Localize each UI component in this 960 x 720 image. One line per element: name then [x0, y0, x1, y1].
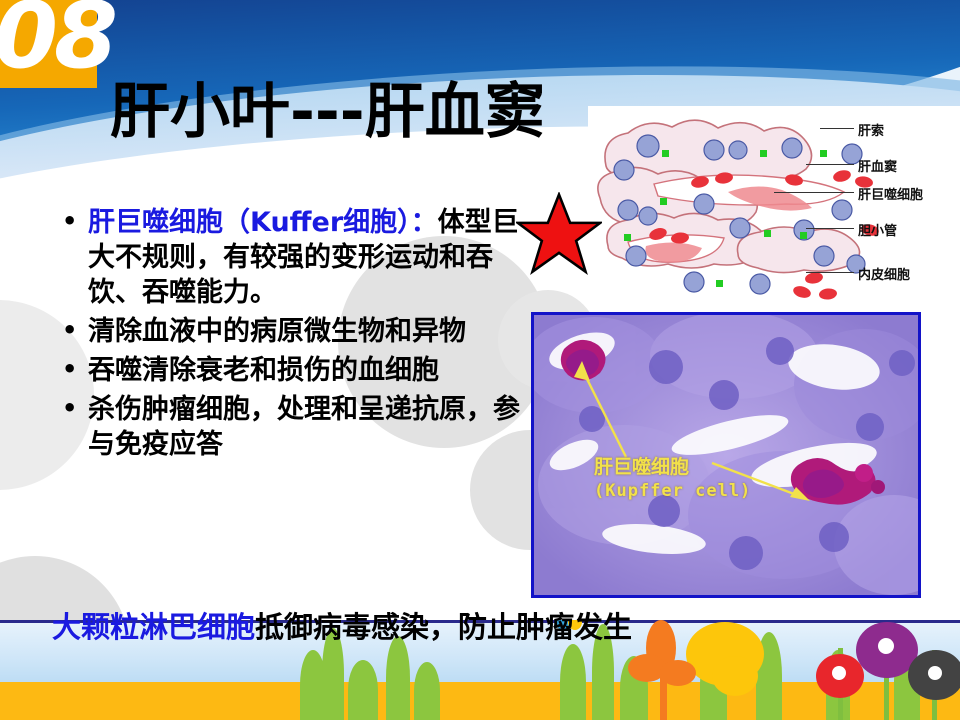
- liver-lobule-diagram: 肝索 肝血窦 肝巨噬细胞 胆小管 内皮细胞: [588, 106, 960, 304]
- diagram-label-3: 肝巨噬细胞: [858, 184, 923, 203]
- flower-dark-center: [928, 666, 942, 680]
- bullet-item-1: 肝巨噬细胞（Kuffer细胞）：体型巨大不规则，有较强的变形运动和吞饮、吞噬能力…: [48, 205, 528, 310]
- diagram-label-5: 内皮细胞: [858, 264, 910, 283]
- grass-blade: [386, 636, 410, 720]
- diagram-label-2: 肝血窦: [858, 156, 897, 175]
- summary-text: 抵御病毒感染，防止肿瘤发生: [255, 610, 632, 644]
- summary-highlight: 大颗粒淋巴细胞: [52, 610, 255, 644]
- slide-canvas: 08 肝小叶---肝血窦 肝巨噬细胞（Kuffer细胞）：体型巨大不规则，有较强…: [0, 0, 960, 720]
- micrograph-caption: 肝巨噬细胞 (Kupffer cell): [594, 455, 751, 503]
- bullet-1-highlight: 肝巨噬细胞（Kuffer细胞）：: [88, 207, 438, 238]
- flower-orange-petal: [660, 660, 696, 686]
- footer-orange-band: [0, 682, 960, 720]
- grass-blade: [348, 660, 378, 720]
- micrograph-caption-cn: 肝巨噬细胞: [594, 455, 751, 479]
- grass-blade: [414, 662, 440, 720]
- diagram-label-4: 胆小管: [858, 220, 897, 239]
- flower-red-center: [832, 666, 846, 680]
- red-star-icon: [516, 192, 602, 276]
- bullet-list: 肝巨噬细胞（Kuffer细胞）：体型巨大不规则，有较强的变形运动和吞饮、吞噬能力…: [48, 205, 528, 466]
- bullet-item-3: 吞噬清除衰老和损伤的血细胞: [48, 353, 528, 388]
- flower-yellow-petal: [712, 656, 758, 696]
- slide-number-badge: 08: [0, 0, 97, 88]
- flower-purple-center: [878, 638, 894, 654]
- diagram-label-group: 肝索 肝血窦 肝巨噬细胞 胆小管 内皮细胞: [836, 112, 960, 302]
- page-title: 肝小叶---肝血窦: [110, 63, 545, 150]
- kupffer-cell-micrograph: 肝巨噬细胞 (Kupffer cell): [531, 312, 921, 598]
- bullet-3-text: 吞噬清除衰老和损伤的血细胞: [88, 355, 439, 386]
- bullet-item-4: 杀伤肿瘤细胞，处理和呈递抗原，参与免疫应答: [48, 392, 528, 462]
- grass-blade: [560, 644, 586, 720]
- bullet-2-text: 清除血液中的病原微生物和异物: [88, 316, 466, 347]
- bullet-4-text: 杀伤肿瘤细胞，处理和呈递抗原，参与免疫应答: [88, 394, 520, 460]
- slide-number-text: 08: [0, 0, 114, 94]
- micrograph-caption-en: (Kupffer cell): [594, 479, 751, 503]
- diagram-label-1: 肝索: [858, 120, 884, 139]
- bullet-item-2: 清除血液中的病原微生物和异物: [48, 314, 528, 349]
- summary-line: 大颗粒淋巴细胞抵御病毒感染，防止肿瘤发生: [52, 604, 632, 646]
